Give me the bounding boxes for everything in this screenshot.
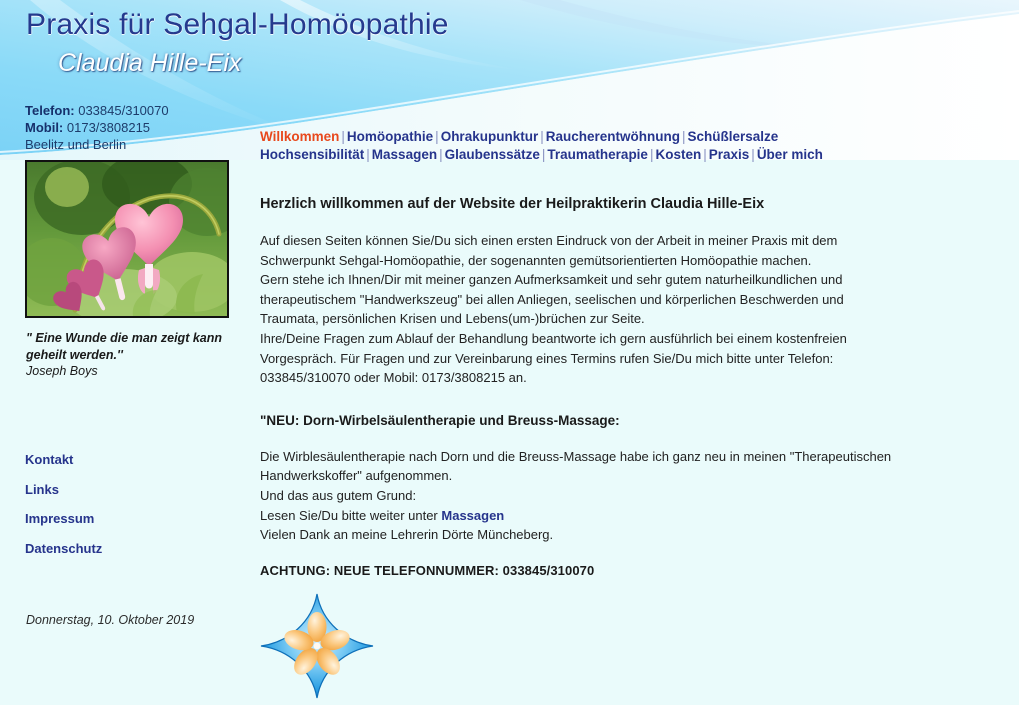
nav-separator: | [701, 147, 709, 162]
nav-row-1: Willkommen|Homöopathie|Ohrakupunktur|Rau… [260, 128, 960, 146]
blue-star-flower-logo [259, 592, 375, 700]
main-navigation: Willkommen|Homöopathie|Ohrakupunktur|Rau… [260, 128, 960, 163]
neu-line-1: Die Wirblesäulentherapie nach Dorn und d… [260, 449, 891, 464]
sidebar-item-links[interactable]: Links [25, 482, 225, 497]
nav-row-2: Hochsensibilität|Massagen|Glaubenssätze|… [260, 146, 960, 164]
sidebar-links: Kontakt Links Impressum Datenschutz [25, 452, 225, 570]
page-subtitle: Claudia Hille-Eix [58, 49, 241, 78]
neu-line-3: Und das aus gutem Grund: [260, 488, 416, 503]
intro-paragraph: Auf diesen Seiten können Sie/Du sich ein… [260, 231, 960, 388]
main-content: Herzlich willkommen auf der Website der … [260, 196, 960, 578]
intro-line-3: Gern stehe ich Ihnen/Dir mit meiner ganz… [260, 272, 842, 287]
welcome-heading: Herzlich willkommen auf der Website der … [260, 196, 960, 212]
sidebar-item-datenschutz[interactable]: Datenschutz [25, 541, 225, 556]
intro-line-1: Auf diesen Seiten können Sie/Du sich ein… [260, 233, 837, 248]
phone-value: 033845/310070 [78, 103, 168, 118]
attention-notice: ACHTUNG: NEUE TELEFONNUMMER: 033845/3100… [260, 563, 960, 578]
neu-line-5: Vielen Dank an meine Lehrerin Dörte Münc… [260, 527, 553, 542]
nav-separator: | [364, 147, 372, 162]
contact-block: Telefon: 033845/310070 Mobil: 0173/38082… [25, 102, 169, 153]
sidebar-item-kontakt[interactable]: Kontakt [25, 452, 225, 467]
spacer [260, 545, 960, 563]
nav-separator: | [749, 147, 757, 162]
nav-separator: | [339, 129, 347, 144]
nav-item-schuesslersalze[interactable]: Schüßlersalze [687, 129, 778, 144]
contact-phone-row: Telefon: 033845/310070 [25, 102, 169, 119]
nav-separator: | [437, 147, 445, 162]
nav-separator: | [538, 129, 546, 144]
nav-item-homoeopathie[interactable]: Homöopathie [347, 129, 433, 144]
phone-label: Telefon: [25, 103, 75, 118]
intro-line-4: therapeutischem "Handwerkszeug" bei alle… [260, 292, 844, 307]
star-flower-icon [259, 592, 375, 700]
read-more-prefix: Lesen Sie/Du bitte weiter unter [260, 508, 441, 523]
nav-separator: | [433, 129, 441, 144]
date-stamp: Donnerstag, 10. Oktober 2019 [26, 613, 194, 627]
mobile-value: 0173/3808215 [67, 120, 150, 135]
intro-line-5: Traumata, persönlichen Krisen und Lebens… [260, 311, 645, 326]
spacer [260, 388, 960, 413]
neu-paragraph: Die Wirblesäulentherapie nach Dorn und d… [260, 447, 960, 545]
nav-item-hochsensibilitaet[interactable]: Hochsensibilität [260, 147, 364, 162]
nav-item-ohrakupunktur[interactable]: Ohrakupunktur [441, 129, 539, 144]
page-title: Praxis für Sehgal-Homöopathie [26, 8, 449, 42]
mobile-label: Mobil: [25, 120, 63, 135]
nav-item-praxis[interactable]: Praxis [709, 147, 750, 162]
quote-text: " Eine Wunde die man zeigt kann geheilt … [26, 330, 241, 364]
intro-line-8: 033845/310070 oder Mobil: 0173/3808215 a… [260, 370, 527, 385]
intro-line-6: Ihre/Deine Fragen zum Ablauf der Behandl… [260, 331, 847, 346]
contact-mobile-row: Mobil: 0173/3808215 [25, 119, 169, 136]
contact-location: Beelitz und Berlin [25, 136, 169, 153]
nav-item-kosten[interactable]: Kosten [655, 147, 701, 162]
sidebar-item-impressum[interactable]: Impressum [25, 511, 225, 526]
intro-line-2: Schwerpunkt Sehgal-Homöopathie, der soge… [260, 253, 811, 268]
massagen-link[interactable]: Massagen [441, 508, 504, 523]
nav-item-traumatherapie[interactable]: Traumatherapie [547, 147, 648, 162]
nav-item-willkommen[interactable]: Willkommen [260, 129, 339, 144]
nav-item-massagen[interactable]: Massagen [372, 147, 437, 162]
spacer [260, 428, 960, 447]
bleeding-heart-flowers-photo [25, 160, 229, 318]
neu-line-2: Handwerkskoffer" aufgenommen. [260, 468, 452, 483]
intro-line-7: Vorgespräch. Für Fragen und zur Vereinba… [260, 351, 833, 366]
nav-item-raucherentwoehnung[interactable]: Raucherentwöhnung [546, 129, 680, 144]
quote-author: Joseph Boys [26, 364, 98, 378]
neu-heading: "NEU: Dorn-Wirbelsäulentherapie und Breu… [260, 413, 960, 428]
photo-graphic [27, 162, 227, 316]
nav-item-glaubenssaetze[interactable]: Glaubenssätze [445, 147, 540, 162]
nav-item-ueber-mich[interactable]: Über mich [757, 147, 823, 162]
